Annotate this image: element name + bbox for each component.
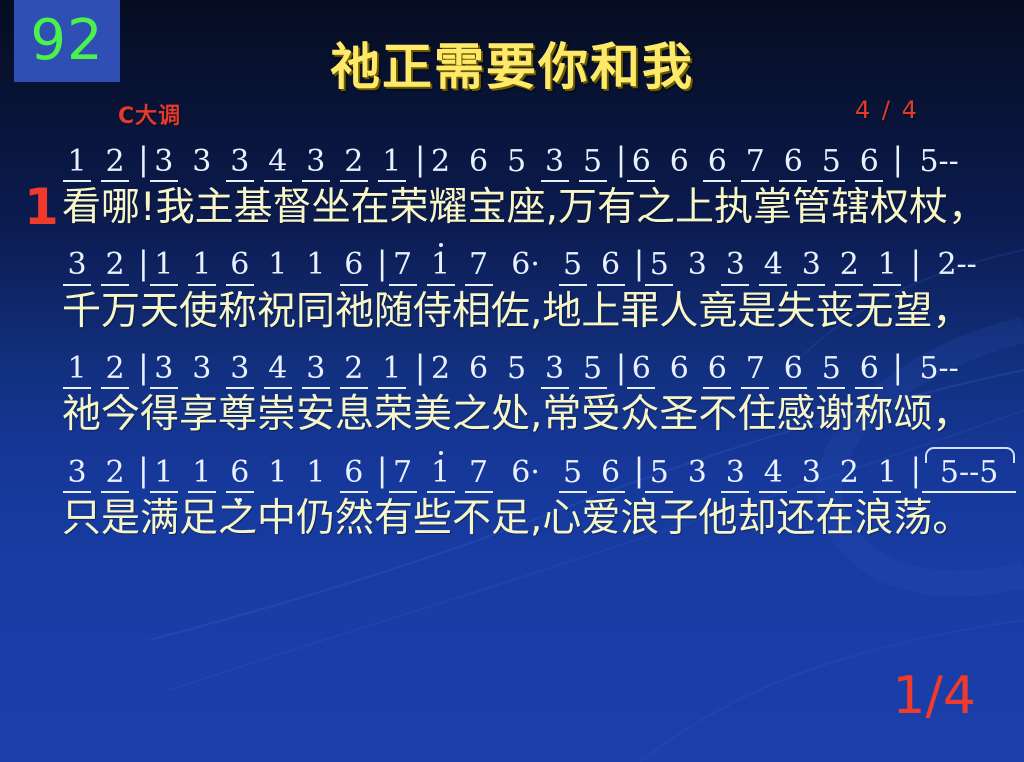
- note-token: 6: [702, 146, 732, 187]
- note-token: 4: [758, 457, 788, 498]
- barline: |: [634, 247, 645, 290]
- note-token: 4: [263, 146, 293, 187]
- barline: |: [892, 351, 903, 394]
- note-token: 6: [778, 353, 808, 394]
- note-token: 5: [558, 249, 588, 290]
- note-token: 5: [558, 457, 588, 498]
- barline: |: [415, 143, 426, 186]
- note-token: 1: [426, 249, 456, 290]
- note-token: 3: [682, 249, 712, 290]
- note-token: 2: [339, 353, 369, 394]
- note-token: 6: [339, 249, 369, 290]
- note-token: 6: [854, 353, 884, 394]
- note-token: 3: [301, 353, 331, 394]
- note-token: 6: [339, 457, 369, 498]
- note-token: 5: [502, 146, 532, 187]
- note-token: 1: [187, 457, 217, 498]
- note-token: 1: [263, 249, 293, 290]
- note-token: 6: [596, 249, 626, 290]
- stave-row: 32|116116|7176·56|5334321|5--5只是满足之中仍然有些…: [62, 451, 1014, 541]
- note-token: 3: [796, 457, 826, 498]
- note-token: 3: [796, 249, 826, 290]
- note-token: 3: [62, 457, 92, 498]
- note-token: 2: [426, 146, 456, 187]
- barline: |: [892, 143, 903, 186]
- note-token: 7: [388, 249, 418, 290]
- note-token: 1: [426, 457, 456, 498]
- page-indicator: 1/4: [892, 670, 976, 722]
- lyrics-line: 千万天使称祝同祂随侍相佐,地上罪人竟是失丧无望，: [62, 290, 1014, 334]
- note-token: 5--5: [921, 457, 1017, 498]
- note-token: 2: [834, 457, 864, 498]
- note-token: 3: [720, 249, 750, 290]
- note-token: 2--: [921, 249, 993, 290]
- note-token: 5: [816, 353, 846, 394]
- music-staves: 12|3334321|26535|6667656|5--看哪!我主基督坐在荣耀宝…: [62, 140, 1014, 555]
- note-token: 5: [644, 457, 674, 498]
- time-signature-label: 4 / 4: [855, 96, 919, 124]
- note-token: 1: [872, 249, 902, 290]
- note-token: 3: [149, 353, 179, 394]
- note-token: 6: [225, 249, 255, 290]
- note-token: 2: [100, 457, 130, 498]
- note-token: 5: [578, 353, 608, 394]
- verse-number-label: 1: [24, 182, 59, 232]
- note-token: 5: [816, 146, 846, 187]
- note-token: 1: [301, 457, 331, 498]
- note-token: 6: [464, 146, 494, 187]
- note-token: 1: [377, 146, 407, 187]
- barline: |: [377, 454, 388, 497]
- barline: |: [138, 247, 149, 290]
- note-token: 3: [225, 353, 255, 394]
- notation-line: 12|3334321|26535|6667656|5--: [62, 140, 1014, 186]
- barline: |: [910, 454, 921, 497]
- barline: |: [415, 351, 426, 394]
- note-token: 5: [578, 146, 608, 187]
- lyrics-line: 祂今得享尊崇安息荣美之处,常受众圣不住感谢称颂，: [62, 393, 1014, 437]
- note-token: 7: [740, 353, 770, 394]
- note-token: 7: [388, 457, 418, 498]
- barline: |: [138, 454, 149, 497]
- note-token: 3: [149, 146, 179, 187]
- note-token: 4: [263, 353, 293, 394]
- note-token: 6: [702, 353, 732, 394]
- note-token: 1: [377, 353, 407, 394]
- note-token: 7: [464, 457, 494, 498]
- stave-row: 12|3334321|26535|6667656|5--看哪!我主基督坐在荣耀宝…: [62, 140, 1014, 230]
- note-token: 3: [187, 353, 217, 394]
- barline: |: [616, 351, 627, 394]
- note-token: 5--: [903, 353, 975, 394]
- key-signature-label: C大调: [118, 98, 181, 130]
- stave-row: 32|116116|7176·56|5334321|2--千万天使称祝同祂随侍相…: [62, 244, 1014, 334]
- note-token: 3: [62, 249, 92, 290]
- note-token: 3: [187, 146, 217, 187]
- note-token: 6: [225, 457, 255, 498]
- notation-line: 32|116116|7176·56|5334321|2--: [62, 244, 1014, 290]
- note-token: 2: [426, 353, 456, 394]
- note-token: 1: [62, 146, 92, 187]
- note-token: 1: [187, 249, 217, 290]
- note-token: 3: [720, 457, 750, 498]
- note-token: 6: [596, 457, 626, 498]
- note-token: 1: [149, 249, 179, 290]
- barline: |: [634, 454, 645, 497]
- stave-row: 12|3334321|26535|6667656|5--祂今得享尊崇安息荣美之处…: [62, 347, 1014, 437]
- lyrics-line: 看哪!我主基督坐在荣耀宝座,万有之上执掌管辖权杖，: [62, 186, 1014, 230]
- note-token: 2: [100, 353, 130, 394]
- note-token: 6: [664, 353, 694, 394]
- note-token: 2: [339, 146, 369, 187]
- note-token: 5: [502, 353, 532, 394]
- note-token: 1: [872, 457, 902, 498]
- lyrics-line: 只是满足之中仍然有些不足,心爱浪子他却还在浪荡。: [62, 497, 1014, 541]
- hymn-slide: 92 祂正需要你和我 C大调 4 / 4 1 12|3334321|26535|…: [0, 0, 1024, 762]
- note-token: 7: [464, 249, 494, 290]
- note-token: 2: [100, 146, 130, 187]
- note-token: 4: [758, 249, 788, 290]
- note-token: 3: [682, 457, 712, 498]
- note-token: 3: [225, 146, 255, 187]
- note-token: 1: [301, 249, 331, 290]
- note-token: 3: [301, 146, 331, 187]
- note-token: 3: [540, 146, 570, 187]
- barline: |: [138, 351, 149, 394]
- note-token: 6·: [502, 249, 550, 290]
- note-token: 5--: [903, 146, 975, 187]
- barline: |: [377, 247, 388, 290]
- note-token: 6: [778, 146, 808, 187]
- barline: |: [910, 247, 921, 290]
- note-token: 6: [464, 353, 494, 394]
- note-token: 1: [62, 353, 92, 394]
- note-token: 3: [540, 353, 570, 394]
- note-token: 7: [740, 146, 770, 187]
- notation-line: 12|3334321|26535|6667656|5--: [62, 347, 1014, 393]
- note-token: 6·: [502, 457, 550, 498]
- notation-line: 32|116116|7176·56|5334321|5--5: [62, 451, 1014, 497]
- note-token: 6: [626, 146, 656, 187]
- note-token: 5: [644, 249, 674, 290]
- barline: |: [616, 143, 627, 186]
- note-token: 2: [100, 249, 130, 290]
- note-token: 1: [263, 457, 293, 498]
- page-title: 祂正需要你和我: [0, 42, 1024, 92]
- note-token: 2: [834, 249, 864, 290]
- note-token: 6: [626, 353, 656, 394]
- note-token: 6: [664, 146, 694, 187]
- barline: |: [138, 143, 149, 186]
- note-token: 1: [149, 457, 179, 498]
- note-token: 6: [854, 146, 884, 187]
